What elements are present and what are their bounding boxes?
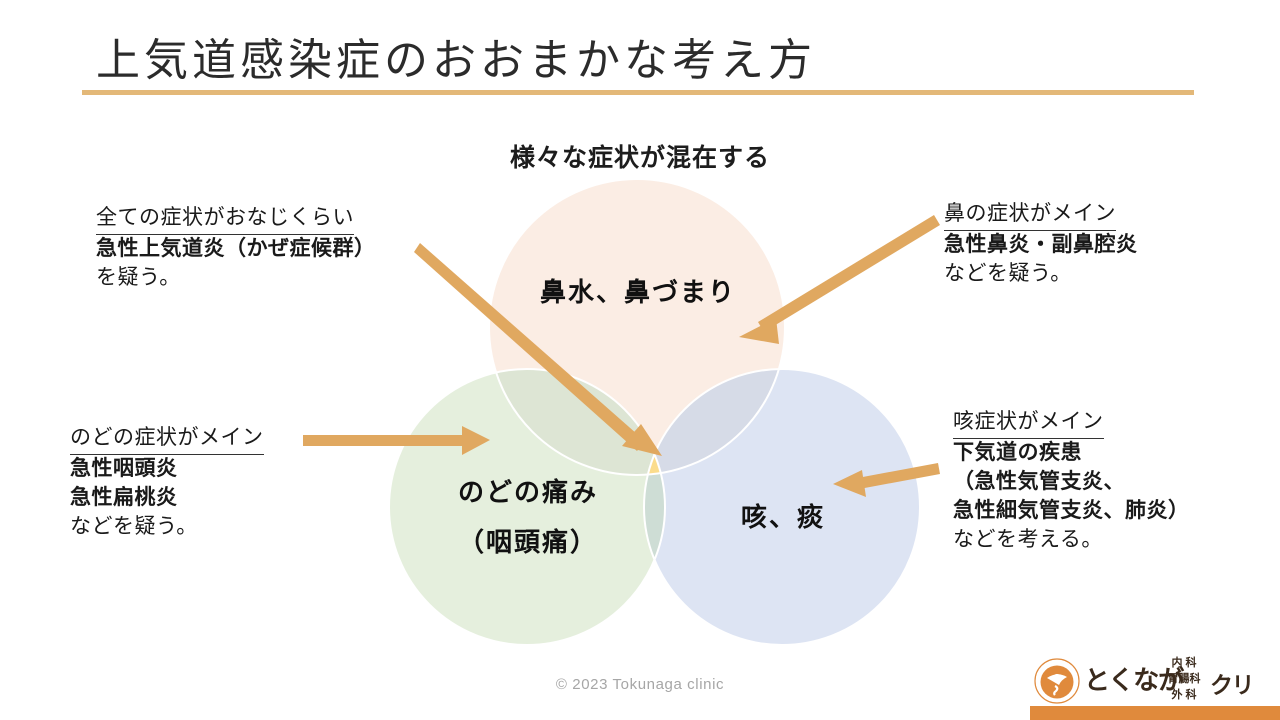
venn-heading: 様々な症状が混在する [0, 138, 1280, 174]
slide-canvas: 上気道感染症のおおまかな考え方 様々な症状が混在する [0, 0, 1280, 720]
annotation-lower-airway-diagnosis-2: （急性気管支炎、 [953, 468, 1190, 497]
arrow-throat-to-pharynx [303, 426, 490, 455]
venn-label-nose: 鼻水、鼻づまり [490, 272, 786, 309]
annotation-rhinitis-tail: などを疑う。 [944, 260, 1138, 289]
venn-circle-nose [489, 179, 785, 475]
venn-diagram [0, 0, 1280, 720]
annotation-lower-airway-tail: などを考える。 [953, 526, 1190, 555]
annotation-rhinitis-diagnosis: 急性鼻炎・副鼻腔炎 [944, 231, 1138, 260]
annotation-common-cold-diagnosis: 急性上気道炎（かぜ症候群） [96, 235, 376, 264]
annotation-common-cold-tail: を疑う。 [96, 264, 376, 293]
venn-label-throat-line1: のどの痛み [390, 472, 666, 509]
clinic-logo-departments: 内 科 胃腸科 外 科 [1158, 656, 1210, 704]
venn-label-cough: 咳、痰 [645, 497, 921, 534]
annotation-pharyngitis-diagnosis-2: 急性扁桃炎 [70, 484, 264, 513]
clinic-logo: とくなが 内 科 胃腸科 外 科 クリニック [1032, 654, 1272, 712]
arrow-lower-to-cough [833, 463, 940, 497]
title-underline-rule [82, 90, 1194, 95]
annotation-lower-airway-diagnosis-3: 急性細気管支炎、肺炎） [953, 497, 1190, 526]
annotation-common-cold-heading: 全ての症状がおなじくらい [96, 204, 354, 235]
annotation-rhinitis-heading: 鼻の症状がメイン [944, 200, 1116, 231]
annotation-pharyngitis-diagnosis-1: 急性咽頭炎 [70, 455, 264, 484]
annotation-pharyngitis: のどの症状がメイン 急性咽頭炎 急性扁桃炎 などを疑う。 [70, 424, 264, 542]
annotation-rhinitis: 鼻の症状がメイン 急性鼻炎・副鼻腔炎 などを疑う。 [944, 200, 1138, 289]
annotation-pharyngitis-heading: のどの症状がメイン [70, 424, 264, 455]
page-title: 上気道感染症のおおまかな考え方 [96, 24, 816, 88]
clinic-emblem-icon [1034, 658, 1080, 704]
clinic-dept-surgery: 外 科 [1158, 688, 1210, 704]
annotation-lower-airway-heading: 咳症状がメイン [953, 408, 1104, 439]
annotation-lower-airway: 咳症状がメイン 下気道の疾患 （急性気管支炎、 急性細気管支炎、肺炎） などを考… [953, 408, 1190, 555]
annotation-lower-airway-diagnosis-1: 下気道の疾患 [953, 439, 1190, 468]
logo-accent-bar [1030, 706, 1280, 720]
clinic-dept-internal: 内 科 [1158, 656, 1210, 672]
overlap-center-triple [0, 0, 1280, 720]
annotation-pharyngitis-tail: などを疑う。 [70, 513, 264, 542]
venn-label-throat-line2: （咽頭痛） [390, 522, 666, 559]
annotation-common-cold: 全ての症状がおなじくらい 急性上気道炎（かぜ症候群） を疑う。 [96, 204, 376, 293]
clinic-dept-gastro: 胃腸科 [1158, 672, 1210, 688]
